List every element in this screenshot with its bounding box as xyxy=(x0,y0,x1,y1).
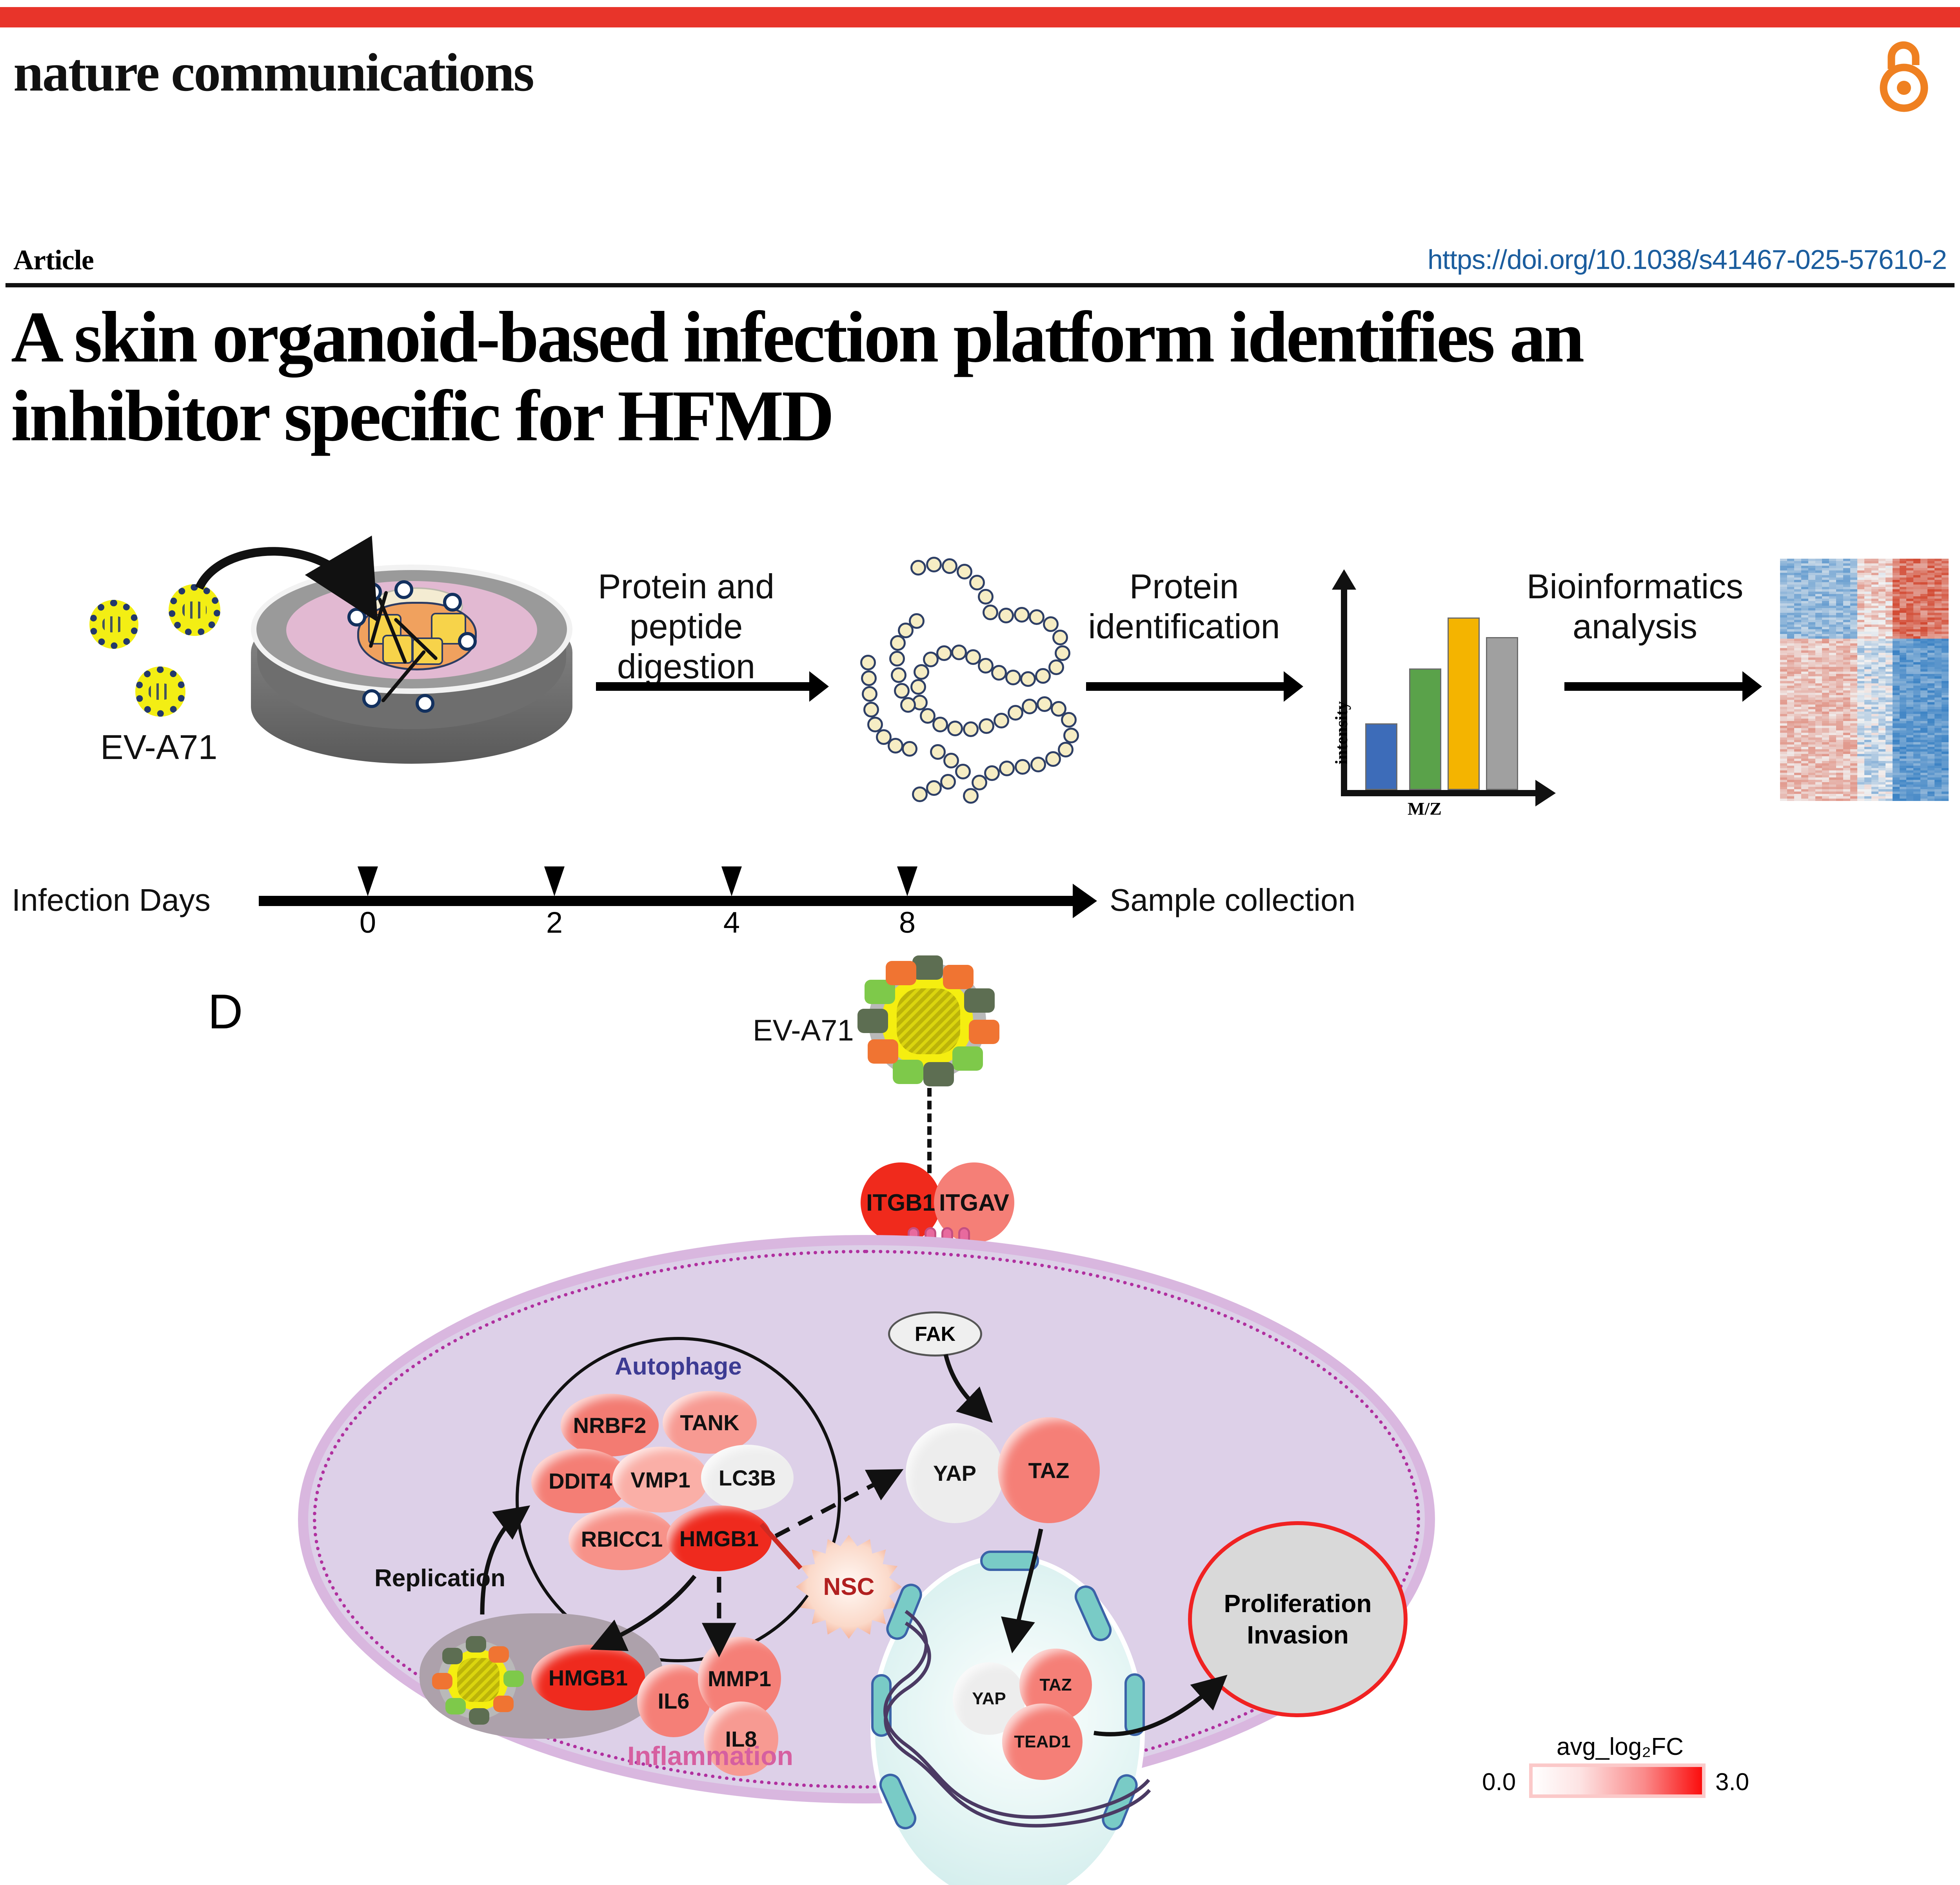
ms-bar xyxy=(1448,617,1480,790)
heatmap-cell xyxy=(1780,799,1787,801)
workflow-arrow-2 xyxy=(1086,682,1286,691)
timeline-tick xyxy=(897,866,917,896)
ms-y-axis-label: intensity xyxy=(1331,701,1351,765)
journal-red-rule xyxy=(0,7,1960,27)
timeline-tick-label: 2 xyxy=(531,906,578,940)
protein-vmp1: VMP1 xyxy=(612,1447,708,1513)
outcome-proliferation-invasion: Proliferation Invasion xyxy=(1188,1521,1408,1717)
nuclear-pore xyxy=(980,1551,1039,1571)
heatmap-cell xyxy=(1878,799,1886,801)
protein-hmgb1-autophage: HMGB1 xyxy=(667,1505,772,1571)
workflow-arrow-3 xyxy=(1564,682,1745,691)
heatmap-cell xyxy=(1935,799,1942,801)
ev-a71-panel-label: EV-A71 xyxy=(753,1013,854,1048)
heatmap-cell xyxy=(1893,799,1900,801)
legend-title: avg_log₂FC xyxy=(1557,1733,1684,1761)
virion-icon xyxy=(135,666,185,717)
peptide-chain-icon xyxy=(843,557,1086,808)
timeline-tick-label: 0 xyxy=(344,906,391,940)
nuclear-pore xyxy=(871,1674,892,1737)
protein-tank: TANK xyxy=(663,1391,757,1454)
heatmap-cell xyxy=(1829,799,1836,801)
page-title: A skin organoid-based infection platform… xyxy=(11,298,1658,456)
heatmap-cell xyxy=(1871,799,1878,801)
replication-label: Replication xyxy=(374,1564,505,1592)
heatmap-cell xyxy=(1864,799,1871,801)
header-divider xyxy=(5,283,1955,287)
heatmap-cell xyxy=(1906,799,1913,801)
timeline-left-label: Infection Days xyxy=(12,882,211,918)
timeline-tick-label: 8 xyxy=(884,906,931,940)
heatmap-cell xyxy=(1942,799,1949,801)
heatmap-cell xyxy=(1920,799,1927,801)
nuclear-pore xyxy=(1124,1673,1145,1736)
heatmap-cell xyxy=(1801,799,1808,801)
legend-max-value: 3.0 xyxy=(1715,1768,1749,1796)
heatmap-cell xyxy=(1808,799,1815,801)
virion-icon xyxy=(169,584,220,636)
petri-dish xyxy=(251,565,572,784)
ms-bar xyxy=(1409,668,1441,790)
protein-yap-cytoplasm: YAP xyxy=(906,1423,1004,1523)
workflow-step-2-label: Protein identification xyxy=(1055,567,1313,646)
ms-bar xyxy=(1365,723,1397,790)
protein-tead1-nucleus: TEAD1 xyxy=(1002,1703,1083,1780)
timeline-tick-label: 4 xyxy=(708,906,755,940)
heatmap-cell xyxy=(1843,799,1850,801)
ms-bar xyxy=(1486,637,1518,790)
heatmap-cell xyxy=(1913,799,1920,801)
ev-a71-virus-particle xyxy=(868,962,986,1080)
heatmap-cell xyxy=(1900,799,1907,801)
legend-color-bar xyxy=(1529,1763,1706,1798)
ms-x-axis xyxy=(1341,790,1537,796)
virion-icon xyxy=(89,600,138,649)
heatmap-cell xyxy=(1815,799,1822,801)
protein-hmgb1-endosome: HMGB1 xyxy=(531,1645,645,1711)
inflammation-label: Inflammation xyxy=(627,1741,793,1771)
article-label: Article xyxy=(13,244,94,276)
heatmap-cell xyxy=(1857,799,1864,801)
heatmap-cell xyxy=(1850,799,1857,801)
ms-x-axis-label: M/Z xyxy=(1408,798,1442,819)
heatmap-cell xyxy=(1927,799,1935,801)
timeline-tick xyxy=(544,866,565,896)
heatmap-cell xyxy=(1886,799,1893,801)
heatmap-cell xyxy=(1787,799,1794,801)
heatmap-thumbnail xyxy=(1780,559,1949,802)
timeline-tick xyxy=(721,866,742,896)
virion-in-endosome-icon xyxy=(438,1641,517,1719)
ev-a71-workflow-label: EV-A71 xyxy=(100,727,217,767)
ms-y-axis xyxy=(1341,588,1347,796)
timeline-axis xyxy=(259,896,1074,906)
panel-letter-d: D xyxy=(208,984,243,1040)
timeline-right-label: Sample collection xyxy=(1110,882,1355,918)
heatmap-cell xyxy=(1836,799,1843,801)
journal-name: nature communications xyxy=(13,41,533,104)
workflow-step-3-label: Bioinformatics analysis xyxy=(1506,567,1764,646)
doi-link[interactable]: https://doi.org/10.1038/s41467-025-57610… xyxy=(1428,244,1947,275)
workflow-step-1-label: Protein and peptide digestion xyxy=(545,567,827,686)
protein-taz-cytoplasm: TAZ xyxy=(998,1417,1100,1523)
figure-page: nature communications Article https://do… xyxy=(0,0,1960,1885)
workflow-arrow-1 xyxy=(596,682,812,691)
heatmap-cell xyxy=(1822,799,1829,801)
autophage-title: Autophage xyxy=(572,1353,784,1380)
legend-min-value: 0.0 xyxy=(1482,1768,1516,1796)
protein-nrbf2: NRBF2 xyxy=(561,1394,659,1456)
protein-rbicc1: RBICC1 xyxy=(569,1507,675,1570)
open-access-padlock-icon xyxy=(1878,35,1929,114)
timeline-tick xyxy=(358,866,378,896)
fak-node: FAK xyxy=(888,1311,982,1357)
heatmap-cell xyxy=(1794,799,1801,801)
protein-lc3b: LC3B xyxy=(701,1445,794,1511)
virus-entry-arrow xyxy=(927,1088,932,1186)
